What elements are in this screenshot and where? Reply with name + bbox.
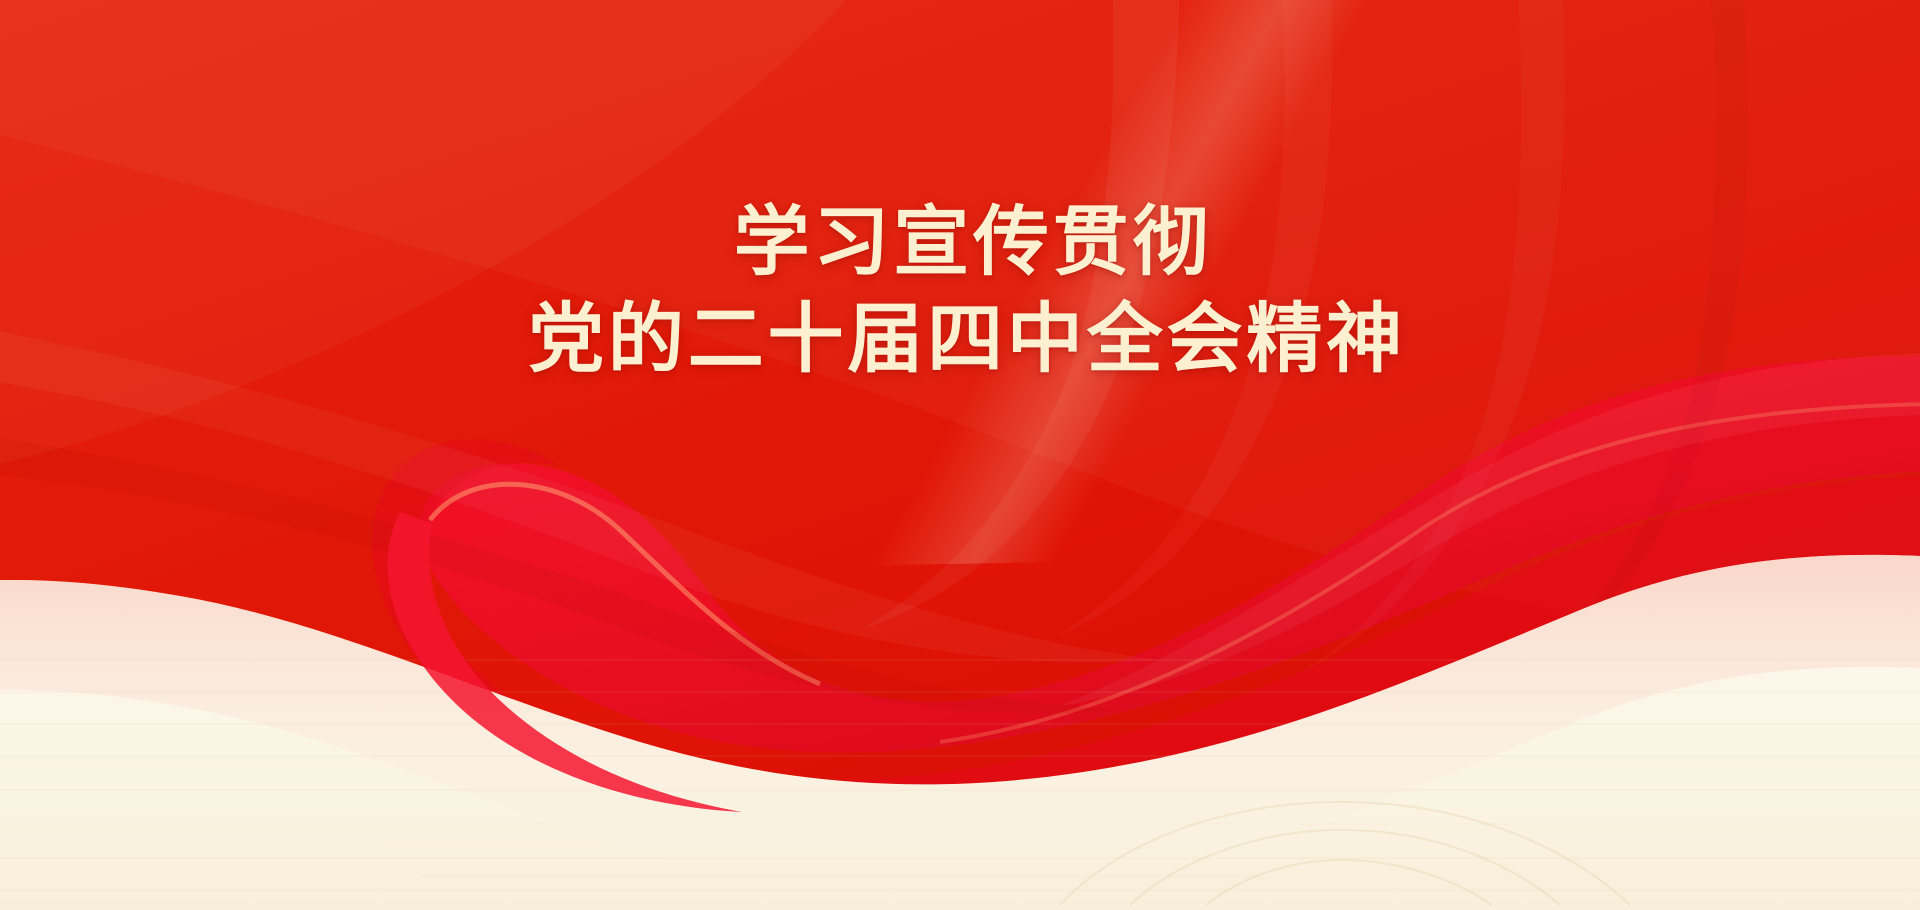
background-gradient [0,0,1920,910]
banner-root: 学习宣传贯彻 党的二十届四中全会精神 [0,0,1920,910]
